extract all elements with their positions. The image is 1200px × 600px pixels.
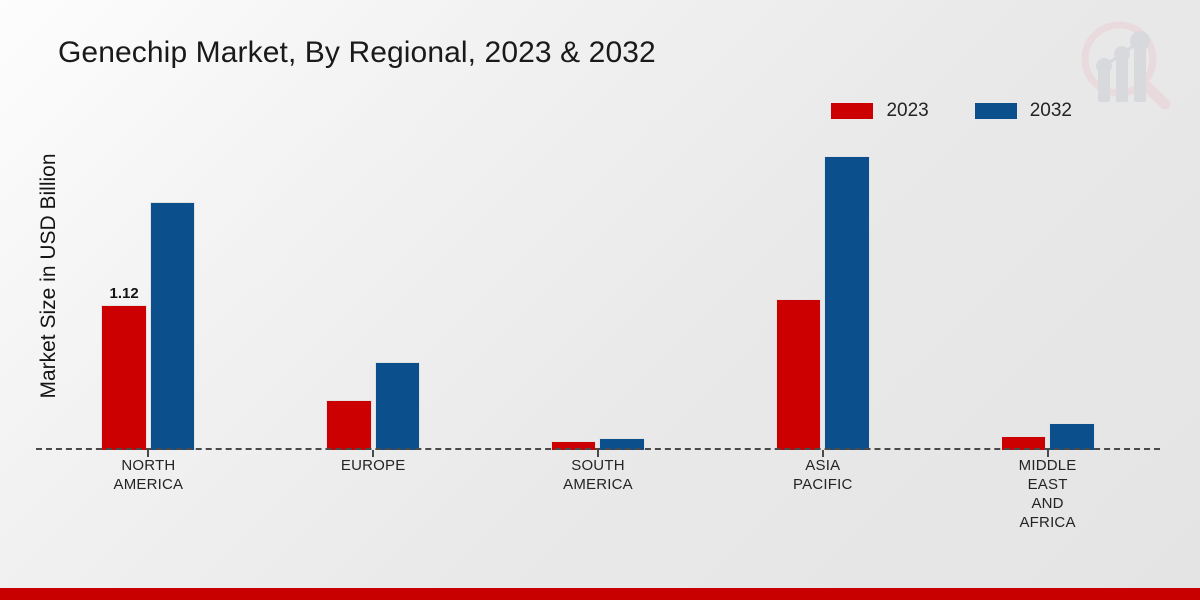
x-axis-label-line: AMERICA <box>486 475 711 494</box>
bar-2032[interactable] <box>375 362 421 450</box>
bar-group <box>935 140 1160 450</box>
x-axis-category-labels: NORTHAMERICAEUROPESOUTHAMERICAASIAPACIFI… <box>36 456 1160 532</box>
legend-label-2032: 2032 <box>1030 101 1072 120</box>
x-axis-label-line: AMERICA <box>36 475 261 494</box>
legend-item-2023[interactable]: 2023 <box>831 101 928 120</box>
legend-label-2023: 2023 <box>886 101 928 120</box>
x-axis-label-line: NORTH <box>36 456 261 475</box>
x-axis-label-line: SOUTH <box>486 456 711 475</box>
chart-title: Genechip Market, By Regional, 2023 & 203… <box>58 36 656 70</box>
bar-pair: 1.12 <box>101 140 195 450</box>
bar-group <box>261 140 486 450</box>
bar-pair <box>551 140 645 450</box>
x-axis-label-line: AFRICA <box>935 513 1160 532</box>
legend-item-2032[interactable]: 2032 <box>975 101 1072 120</box>
x-axis-label: ASIAPACIFIC <box>710 456 935 532</box>
x-axis-label-line: PACIFIC <box>710 475 935 494</box>
x-axis-label-line: EUROPE <box>261 456 486 475</box>
x-axis-label: SOUTHAMERICA <box>486 456 711 532</box>
x-axis-label-line: MIDDLE <box>935 456 1160 475</box>
x-axis-label: MIDDLEEASTANDAFRICA <box>935 456 1160 532</box>
chart-container: Genechip Market, By Regional, 2023 & 203… <box>0 0 1200 600</box>
bar-group: 1.12 <box>36 140 261 450</box>
legend-swatch-2023 <box>831 103 873 119</box>
bar-2023[interactable]: 1.12 <box>101 305 147 450</box>
bar-value-label: 1.12 <box>110 285 139 302</box>
bar-groups: 1.12 <box>36 140 1160 450</box>
watermark-logo <box>1072 14 1176 118</box>
chart-legend: 2023 2032 <box>831 101 1072 120</box>
x-axis-label-line: AND <box>935 494 1160 513</box>
bar-2032[interactable] <box>1049 423 1095 450</box>
bar-2032[interactable] <box>824 156 870 451</box>
footer-accent-bar <box>0 588 1200 600</box>
bar-pair <box>776 140 870 450</box>
plot-area: 1.12 <box>36 140 1160 450</box>
bar-2023[interactable] <box>326 400 372 450</box>
bar-pair <box>326 140 420 450</box>
x-axis-label: EUROPE <box>261 456 486 532</box>
bar-group <box>486 140 711 450</box>
x-axis-label-line: EAST <box>935 475 1160 494</box>
x-axis-baseline <box>36 448 1160 450</box>
bar-pair <box>1001 140 1095 450</box>
bar-2023[interactable] <box>776 299 822 450</box>
bar-group <box>710 140 935 450</box>
bar-2032[interactable] <box>150 202 196 450</box>
legend-swatch-2032 <box>975 103 1017 119</box>
x-axis-label: NORTHAMERICA <box>36 456 261 532</box>
x-axis-label-line: ASIA <box>710 456 935 475</box>
